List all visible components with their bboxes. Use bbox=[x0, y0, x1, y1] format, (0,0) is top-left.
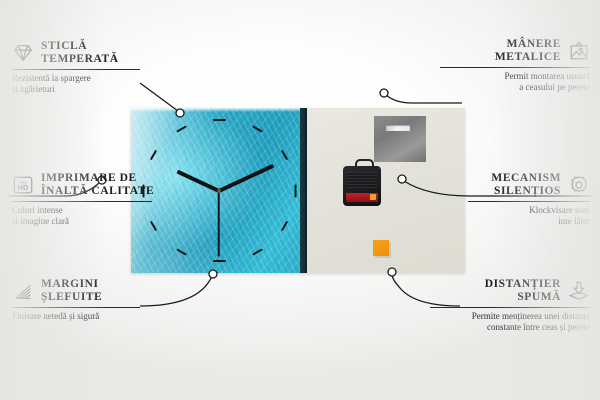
clock-center-pin bbox=[217, 189, 221, 193]
clock-back-view bbox=[307, 108, 465, 273]
mechanism-hanging-loop bbox=[355, 159, 374, 170]
callout-title-line1: STICLĂ bbox=[41, 40, 119, 53]
callout-title-line2: ȘLEFUITE bbox=[41, 291, 102, 304]
callout-divider bbox=[468, 201, 590, 202]
connector-handles bbox=[386, 95, 462, 103]
callout-divider bbox=[440, 67, 590, 68]
hour-hand bbox=[176, 169, 219, 192]
connector-dot-handles bbox=[380, 89, 388, 97]
callout-title-line1: IMPRIMARE DE bbox=[41, 172, 154, 185]
diamond-icon bbox=[12, 42, 34, 64]
callout-divider bbox=[430, 307, 590, 308]
battery bbox=[346, 193, 378, 202]
callout-sub-line1: Klockvisare som bbox=[468, 205, 590, 216]
gear-icon bbox=[568, 174, 590, 196]
callout-metal-handles: MÂNERE METALICE Permit montarea ușoară a… bbox=[440, 38, 590, 93]
press-down-icon bbox=[568, 280, 590, 302]
callout-foam-spacer: DISTANȚIER SPUMĂ Permite menținerea unei… bbox=[430, 278, 590, 333]
callout-polished-edges: MARGINI ȘLEFUITE Finisare netedă și sigu… bbox=[12, 278, 152, 322]
callout-divider bbox=[12, 307, 140, 308]
callout-sub-line1: Permit montarea ușoară bbox=[440, 71, 590, 82]
callout-sub-line1: Permite menținerea unei distanțe bbox=[430, 311, 590, 322]
hanger-slot bbox=[386, 125, 410, 131]
product-images bbox=[131, 108, 465, 273]
callout-sub-line2: și imagine clară bbox=[12, 216, 164, 227]
callout-sub-line2: inte låter bbox=[468, 216, 590, 227]
mechanism-body-texture bbox=[347, 172, 377, 188]
callout-sub-line2: a ceasului pe perete bbox=[440, 82, 590, 93]
callout-title-line2: METALICE bbox=[495, 51, 561, 64]
callout-high-quality-print: ultra HD IMPRIMARE DE ÎNALTĂ CALITATE Cu… bbox=[12, 172, 164, 227]
metal-hanger-plate bbox=[374, 116, 426, 162]
second-hand bbox=[218, 191, 220, 257]
callout-title-line2: SPUMĂ bbox=[485, 291, 561, 304]
glass-side-edge bbox=[300, 108, 307, 273]
battery-terminal bbox=[370, 194, 376, 200]
foam-spacer bbox=[373, 240, 389, 256]
callout-sub-line2: constante între ceas și perete bbox=[430, 322, 590, 333]
callout-title-line2: SILENȚIOS bbox=[491, 185, 561, 198]
callout-silent-mechanism: MECANISM SILENȚIOS Klockvisare som inte … bbox=[468, 172, 590, 227]
svg-text:HD: HD bbox=[18, 183, 29, 192]
callout-title-line1: MECANISM bbox=[491, 172, 561, 185]
polished-edge-icon bbox=[12, 280, 34, 302]
callout-title-line2: TEMPERATĂ bbox=[41, 53, 119, 66]
minute-hand bbox=[218, 163, 274, 192]
callout-sub-line1: Culori intense bbox=[12, 205, 164, 216]
callout-divider bbox=[12, 201, 152, 202]
callout-sub-line1: Finisare netedă și sigură bbox=[12, 311, 152, 322]
callout-sub-line2: și zgârieturi bbox=[12, 84, 152, 95]
callout-divider bbox=[12, 69, 140, 70]
ultra-hd-icon: ultra HD bbox=[12, 174, 34, 196]
callout-title-line1: MÂNERE bbox=[495, 38, 561, 51]
callout-title-line1: DISTANȚIER bbox=[485, 278, 561, 291]
callout-title-line2: ÎNALTĂ CALITATE bbox=[41, 185, 154, 198]
picture-hanger-icon bbox=[568, 40, 590, 62]
callout-title-line1: MARGINI bbox=[41, 278, 102, 291]
infographic-canvas: STICLĂ TEMPERATĂ Rezistentă la spargere … bbox=[0, 0, 600, 400]
callout-tempered-glass: STICLĂ TEMPERATĂ Rezistentă la spargere … bbox=[12, 40, 152, 95]
callout-sub-line1: Rezistentă la spargere bbox=[12, 73, 152, 84]
quartz-mechanism bbox=[343, 166, 381, 206]
